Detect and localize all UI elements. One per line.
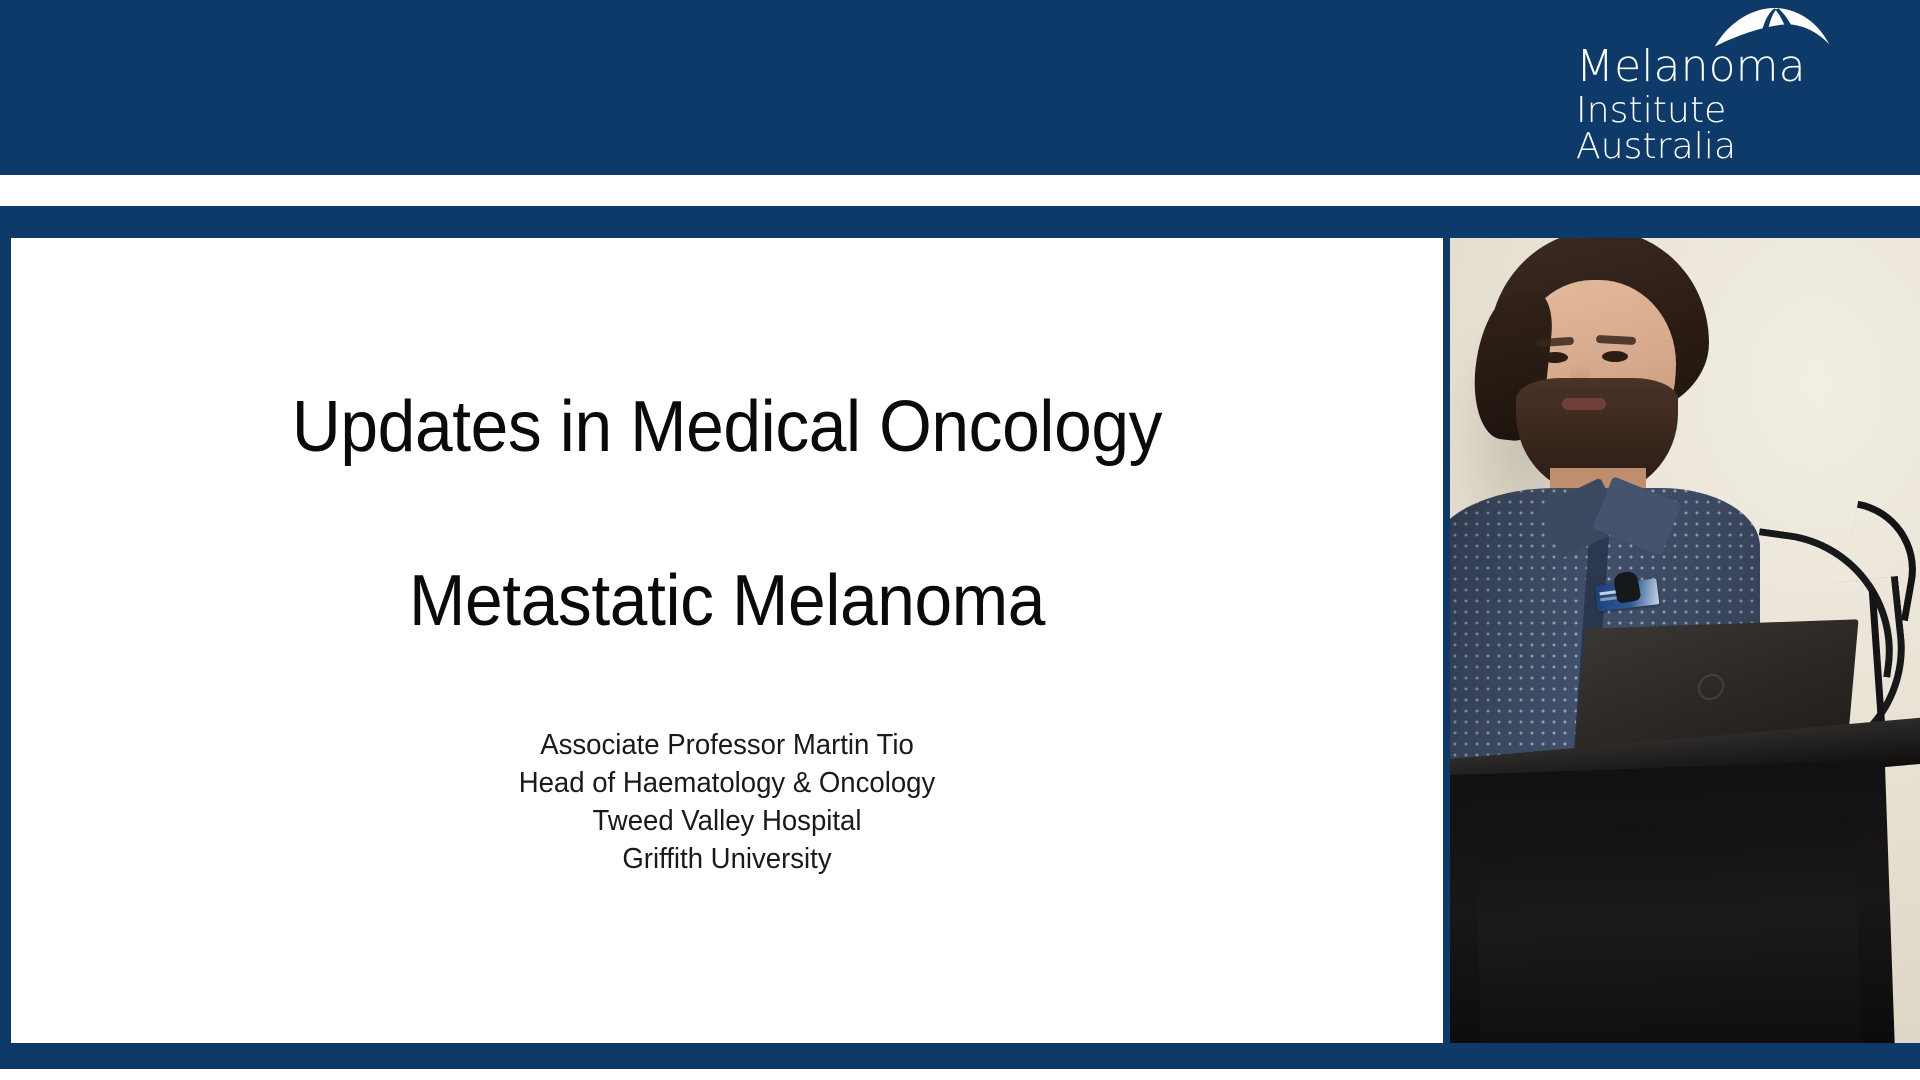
melanoma-institute-australia-logo: Melanoma Institute Australia: [1576, 8, 1876, 166]
affiliation-line: Tweed Valley Hospital: [47, 802, 1407, 840]
speaker-eye-left: [1542, 352, 1568, 363]
affiliation-line: Griffith University: [47, 840, 1407, 878]
logo-name-line-2: Institute Australia: [1576, 93, 1876, 166]
speaker-eye-right: [1602, 351, 1628, 362]
slide-title: Updates in Medical Oncology: [54, 386, 1400, 468]
slide-subtitle: Metastatic Melanoma: [54, 560, 1400, 642]
speaker-mouth: [1562, 398, 1606, 410]
podium-front-panel: [1474, 817, 1862, 1043]
brand-header: Melanoma Institute Australia: [0, 0, 1920, 175]
speaker-video-panel[interactable]: [1450, 238, 1920, 1043]
presentation-viewer: Melanoma Institute Australia Updates in …: [0, 0, 1920, 1080]
affiliation-line: Associate Professor Martin Tio: [47, 726, 1407, 764]
logo-name-line-1: Melanoma: [1576, 45, 1876, 90]
bottom-white-strip: [0, 1069, 1920, 1080]
slide-content: Updates in Medical Oncology Metastatic M…: [11, 238, 1443, 1043]
slide-affiliations: Associate Professor Martin Tio Head of H…: [11, 726, 1443, 878]
bottom-brand-bar: [0, 1043, 1920, 1069]
header-under-bar: [0, 206, 1920, 230]
slide-panel[interactable]: Updates in Medical Oncology Metastatic M…: [11, 238, 1443, 1043]
affiliation-line: Head of Haematology & Oncology: [47, 764, 1407, 802]
